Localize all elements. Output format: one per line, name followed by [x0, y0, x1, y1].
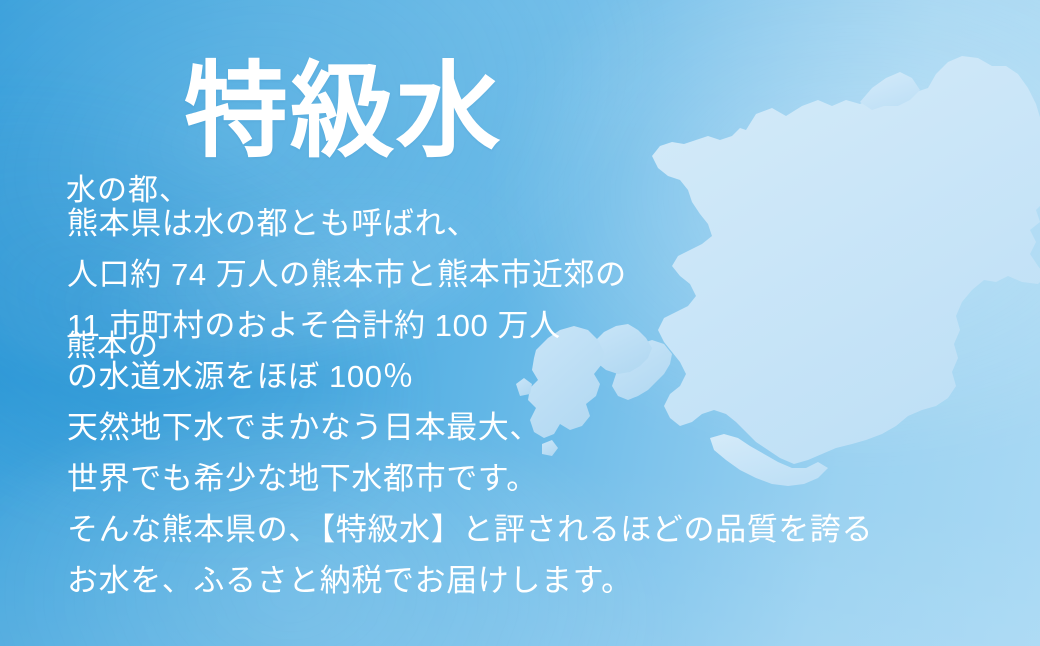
- body-line: 熊本県は水の都とも呼ばれ、: [67, 198, 1007, 249]
- body-line: 天然地下水でまかなう日本最大、: [67, 402, 1007, 453]
- water-promo-banner: 水の都、 熊本の 特級水 熊本県は水の都とも呼ばれ、 人口約 74 万人の熊本市…: [0, 0, 1040, 646]
- body-copy: 熊本県は水の都とも呼ばれ、 人口約 74 万人の熊本市と熊本市近郊の 11 市町…: [67, 198, 1007, 606]
- body-line: 世界でも希少な地下水都市です。: [67, 453, 1007, 504]
- body-line: の水道水源をほぼ 100％: [67, 351, 1007, 402]
- title-headline: 特級水: [184, 58, 502, 166]
- body-line: 11 市町村のおよそ合計約 100 万人: [67, 300, 1007, 351]
- body-line: そんな熊本県の、【特級水】と評されるほどの品質を誇る: [67, 504, 1007, 555]
- body-line: お水を、ふるさと納税でお届けします。: [67, 555, 1007, 606]
- body-line: 人口約 74 万人の熊本市と熊本市近郊の: [67, 249, 1007, 300]
